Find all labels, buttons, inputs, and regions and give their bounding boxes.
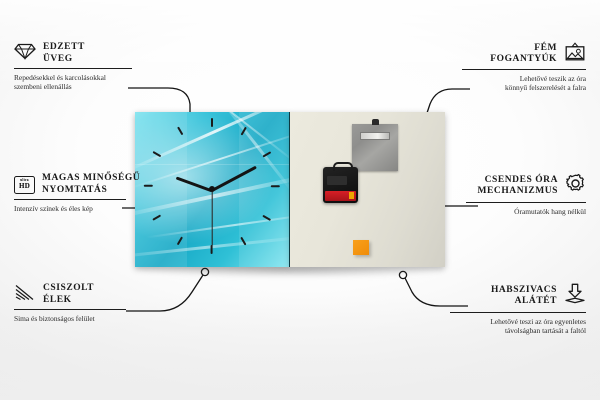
mechanism-label-mark [349, 192, 354, 199]
gear-icon [565, 173, 586, 199]
feature-edzett-uveg: EDZETT ÜVEG Repedésekkel és karcolásokka… [14, 42, 132, 91]
metal-hanger-plate [352, 124, 398, 171]
ultra-hd-icon-main: HD [19, 183, 30, 190]
clock-back-panel [290, 112, 445, 267]
hanger-hook [372, 119, 379, 125]
clock-tick [211, 118, 213, 127]
product-image [135, 112, 445, 272]
feature-description-2: könnyű felszerelését a falra [462, 83, 586, 92]
feature-description: Intenzív színek és éles kép [14, 204, 126, 213]
clock-mechanism [323, 167, 358, 203]
feature-title: HABSZIVACS [491, 285, 557, 297]
ultra-hd-icon: ultra HD [14, 176, 35, 194]
divider [14, 199, 126, 200]
feature-description: Lehetővé teszi az óra egyenletes [450, 317, 586, 326]
feature-description: Sima és biztonságos felület [14, 314, 126, 323]
feature-fem-fogantyuk: FÉM FOGANTYÚK Lehetővé teszik az óra kön… [462, 42, 586, 92]
divider [450, 312, 586, 313]
mechanism-handle [333, 162, 353, 171]
picture-hanger-icon [564, 42, 586, 66]
feature-csiszolt-elek: CSISZOLT ÉLEK Sima és biztonságos felüle… [14, 283, 126, 323]
divider [14, 309, 126, 310]
feature-description-2: távolságban tartását a faltól [450, 326, 586, 335]
mechanism-label [325, 191, 356, 201]
feature-title: MAGAS MINŐSÉGŰ [42, 173, 140, 185]
feature-title: CSISZOLT [43, 283, 94, 295]
feature-title-2: ÜVEG [43, 54, 85, 66]
foam-pad-arrow-icon [564, 283, 586, 309]
feature-title-2: ÉLEK [43, 295, 94, 307]
product-infographic: EDZETT ÜVEG Repedésekkel és karcolásokka… [0, 0, 600, 400]
feature-title-2: NYOMTATÁS [42, 185, 140, 197]
clock-tick [144, 185, 153, 187]
clock-center-cap [209, 186, 215, 192]
mechanism-groove [327, 176, 347, 185]
clock-tick [271, 185, 280, 187]
foam-pad [353, 240, 369, 255]
feature-magas-minosegu-nyomtatas: ultra HD MAGAS MINŐSÉGŰ NYOMTATÁS Intenz… [14, 173, 126, 213]
feature-title: EDZETT [43, 42, 85, 54]
feature-description: Lehetővé teszik az óra [462, 74, 586, 83]
divider [466, 202, 586, 203]
feature-habszivacs-alatet: HABSZIVACS ALÁTÉT Lehetővé teszi az óra … [450, 283, 586, 335]
feature-csendes-ora-mechanizmus: CSENDES ÓRA MECHANIZMUS Óramutatók hang … [466, 173, 586, 216]
clock-tick [211, 245, 213, 254]
clock-second-hand [211, 190, 212, 246]
diamond-icon [14, 43, 36, 65]
feature-description: Óramutatók hang nélkül [466, 207, 586, 216]
clock-face-front [135, 112, 290, 267]
feature-description-2: szembeni ellenállás [14, 82, 132, 91]
feature-title-2: MECHANIZMUS [478, 186, 558, 198]
divider [462, 69, 586, 70]
feature-title: FÉM [490, 43, 557, 55]
polished-edges-icon [14, 284, 36, 306]
divider [14, 68, 132, 69]
feature-title-2: ALÁTÉT [491, 296, 557, 308]
feature-description: Repedésekkel és karcolásokkal [14, 73, 132, 82]
hanger-slot [360, 132, 390, 140]
feature-title: CSENDES ÓRA [478, 175, 558, 187]
feature-title-2: FOGANTYÚK [490, 54, 557, 66]
